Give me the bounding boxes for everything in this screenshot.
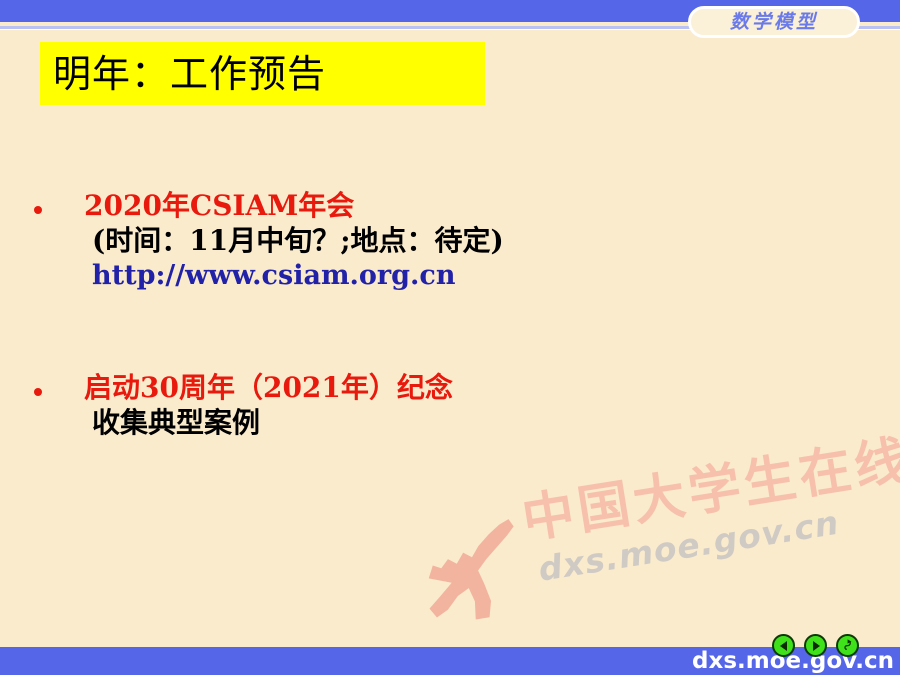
running-figure-icon — [413, 509, 548, 631]
arrow-left-icon — [778, 640, 790, 652]
watermark-organization: 中国大学生在线 — [519, 434, 900, 547]
bullet-1-line-2: (时间：11月中旬？;地点：待定) — [32, 227, 900, 255]
slide-navigation — [772, 634, 872, 658]
next-slide-button[interactable] — [804, 634, 827, 657]
bullet-2-line-1: 启动30周年（2021年）纪念 — [32, 374, 900, 402]
slide-body: 2020年CSIAM年会 (时间：11月中旬？;地点：待定) http://ww… — [0, 130, 900, 444]
bullet-marker-icon — [34, 388, 42, 396]
loop-arrow-icon — [841, 639, 854, 652]
course-badge: 数学模型 — [688, 6, 860, 38]
replay-slide-button[interactable] — [836, 634, 859, 657]
footer-bar: dxs.moe.gov.cn — [0, 647, 900, 675]
bullet-item-2: 启动30周年（2021年）纪念 收集典型案例 — [0, 374, 900, 437]
watermark: 中国大学生在线 dxs.moe.gov.cn — [400, 437, 894, 640]
csiam-website-link[interactable]: http://www.csiam.org.cn — [32, 262, 900, 289]
bullet-2-line-2: 收集典型案例 — [32, 409, 900, 437]
page-title: 明年：工作预告 — [40, 55, 326, 93]
bullet-marker-icon — [34, 206, 42, 214]
slide-title-highlight: 明年：工作预告 — [40, 42, 485, 105]
previous-slide-button[interactable] — [772, 634, 795, 657]
course-badge-label: 数学模型 — [730, 13, 818, 32]
arrow-right-icon — [810, 640, 822, 652]
watermark-url: dxs.moe.gov.cn — [536, 506, 841, 586]
bullet-1-line-1: 2020年CSIAM年会 — [32, 192, 900, 220]
bullet-item-1: 2020年CSIAM年会 (时间：11月中旬？;地点：待定) http://ww… — [0, 192, 900, 289]
slide-canvas: 数学模型 明年：工作预告 2020年CSIAM年会 (时间：11月中旬？;地点：… — [0, 0, 900, 675]
